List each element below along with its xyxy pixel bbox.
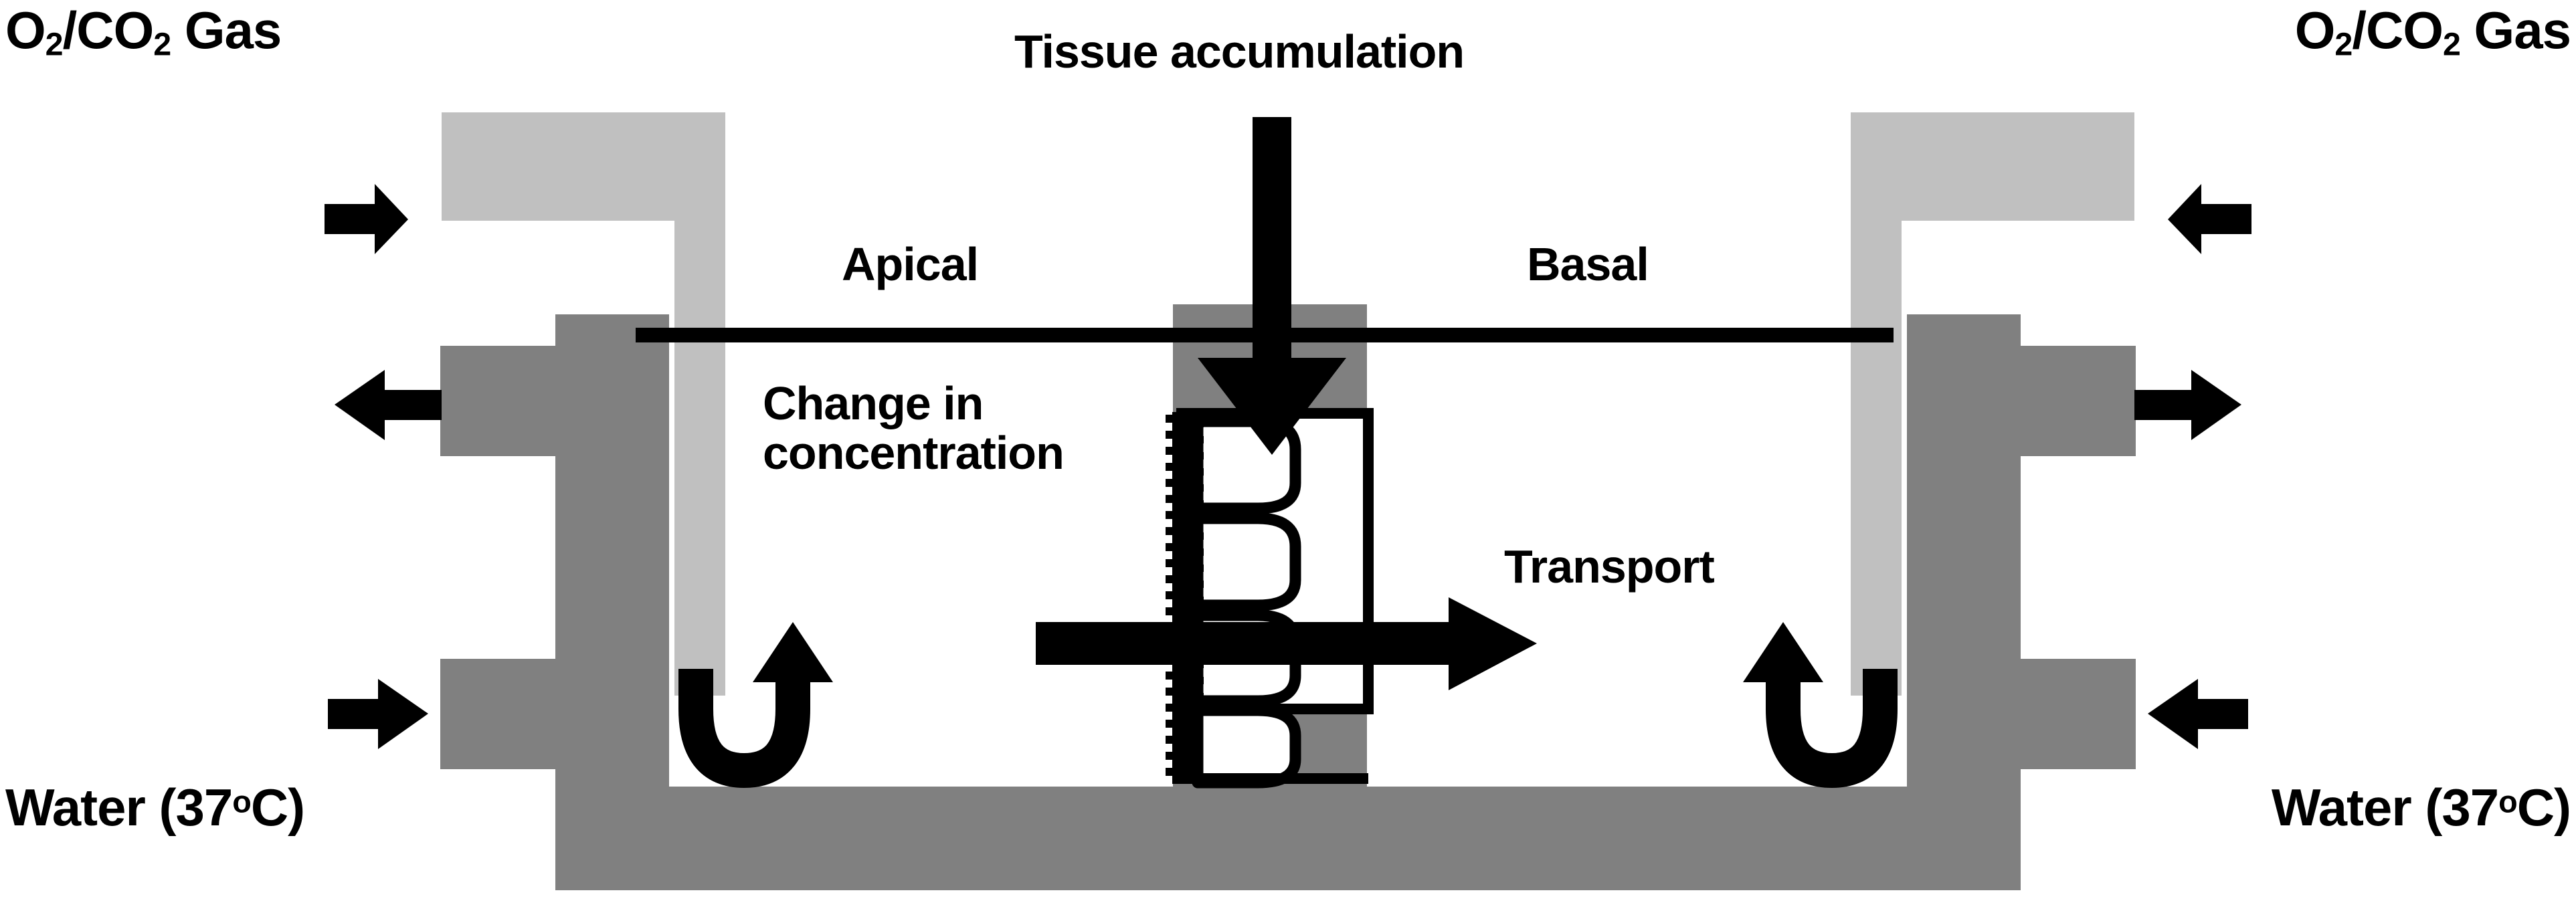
water-in-arrow-right-icon xyxy=(2148,679,2248,749)
apical-label: Apical xyxy=(842,241,978,288)
water-label-left: Water (37oC) xyxy=(5,781,304,833)
gas-label-left: O2/CO2 Gas xyxy=(5,4,281,61)
gas-label-right: O2/CO2 Gas xyxy=(2295,4,2571,61)
cell xyxy=(1198,518,1295,605)
change-in-concentration-label: Change in concentration xyxy=(763,379,1064,478)
transport-label: Transport xyxy=(1504,543,1714,590)
diagram-root: O2/CO2 Gas O2/CO2 Gas Tissue accumulatio… xyxy=(0,0,2576,921)
water-label-right: Water (37oC) xyxy=(2272,781,2571,833)
change-in-concentration-line-1: Change in xyxy=(763,379,1064,428)
tissue-accumulation-label: Tissue accumulation xyxy=(1014,28,1464,75)
gas-in-arrow-left-icon xyxy=(325,184,408,254)
water-out-arrow-left-icon xyxy=(335,370,442,440)
gas-in-arrow-right-icon xyxy=(2168,184,2251,254)
cell xyxy=(1198,710,1295,783)
water-jacket-base xyxy=(555,787,2021,890)
water-jacket-left xyxy=(440,314,669,824)
water-in-arrow-left-icon xyxy=(328,679,428,749)
apparatus-svg xyxy=(0,0,2576,921)
change-in-concentration-line-2: concentration xyxy=(763,428,1064,478)
water-out-arrow-right-icon xyxy=(2134,370,2241,440)
basal-label: Basal xyxy=(1527,241,1649,288)
water-jacket-right xyxy=(1907,314,2136,824)
